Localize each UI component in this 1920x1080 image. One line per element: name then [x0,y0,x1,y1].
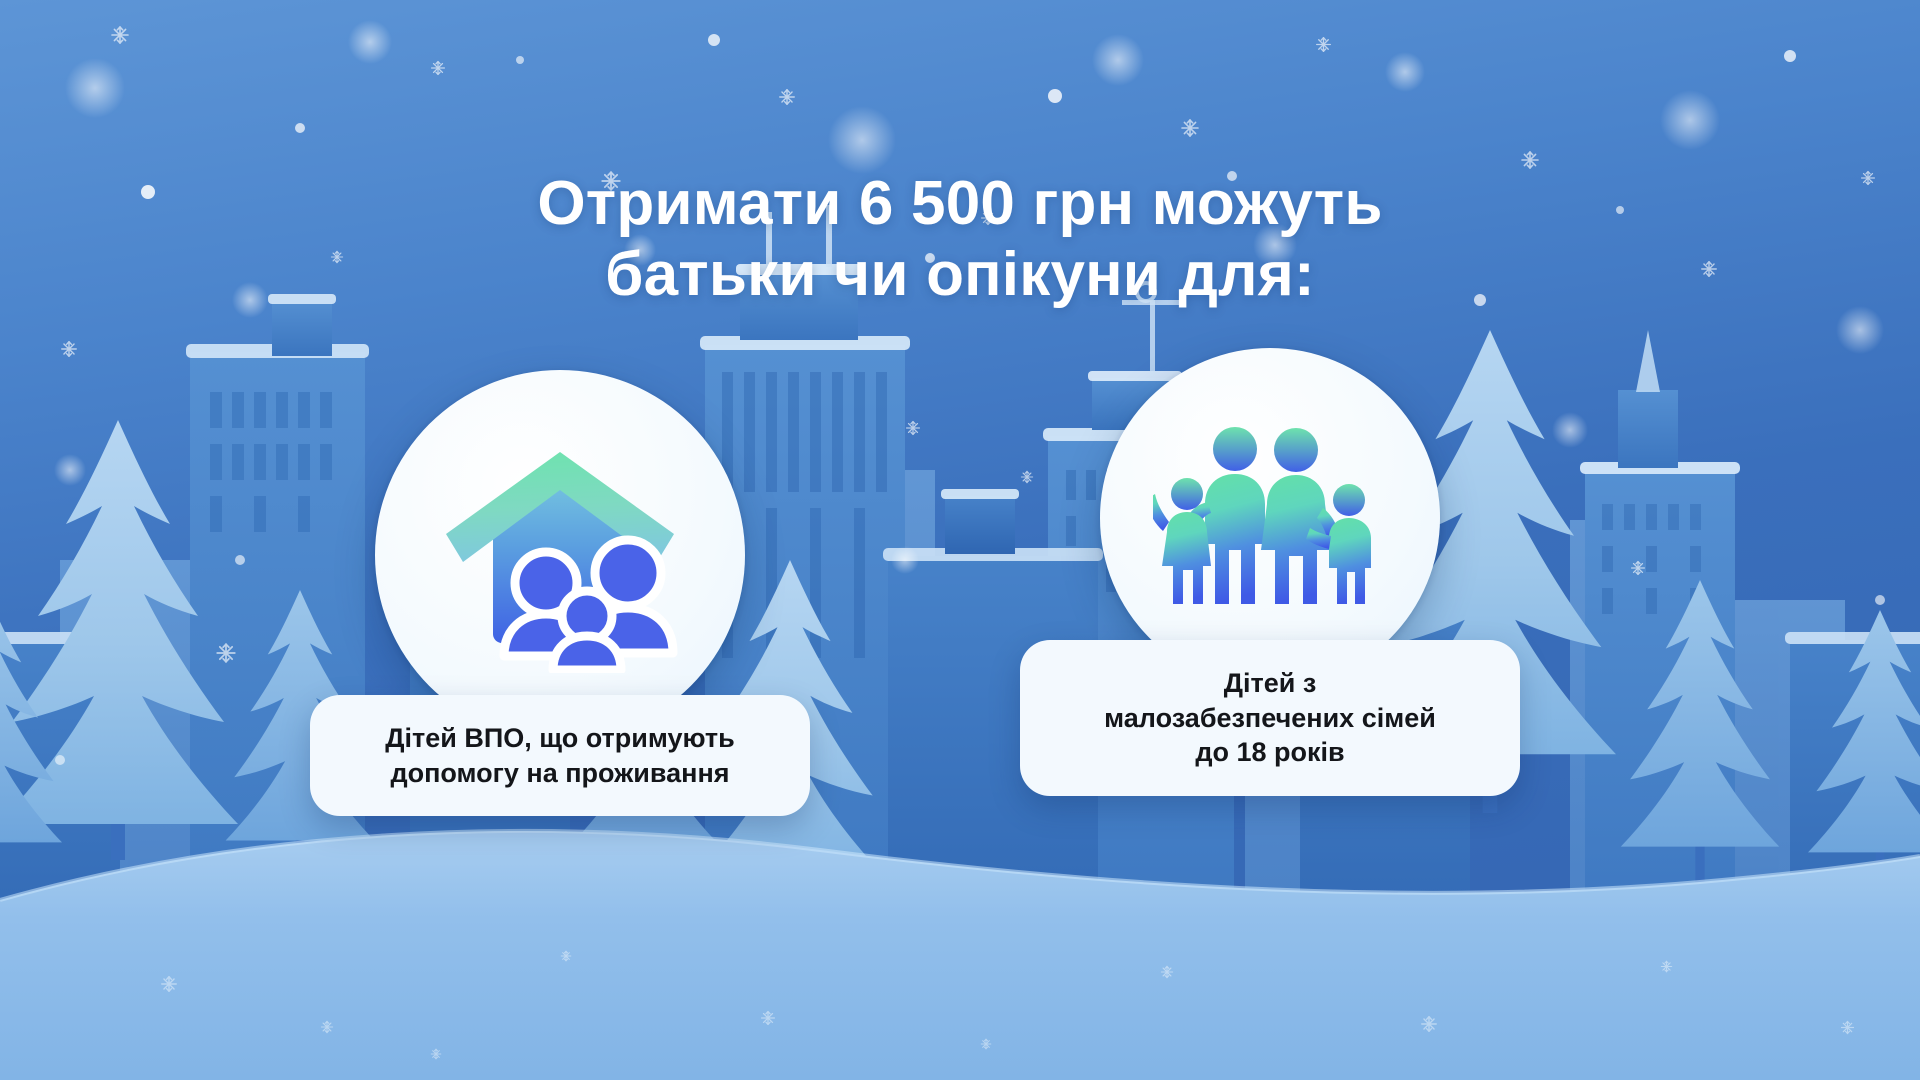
caption-line: Дітей ВПО, що отримують [344,721,776,756]
caption-line: малозабезпечених сімей [1054,701,1486,736]
family-of-four-icon [1153,418,1388,618]
card-caption-left: Дітей ВПО, що отримують допомогу на прож… [310,695,810,816]
icon-badge-right [1100,348,1440,688]
title-line-1: Отримати 6 500 грн можуть [360,168,1560,240]
icon-badge-left [375,370,745,740]
house-with-family-icon [435,438,685,673]
caption-line: до 18 років [1054,735,1486,770]
category-card-idp-children: Дітей ВПО, що отримують допомогу на прож… [300,370,820,816]
infographic-poster: Отримати 6 500 грн можуть батьки чи опік… [0,0,1920,1080]
caption-line: допомогу на проживання [344,756,776,791]
category-card-low-income-children: Дітей з малозабезпечених сімей до 18 рок… [1010,348,1530,796]
title-line-2: батьки чи опікуни для: [360,239,1560,311]
page-title: Отримати 6 500 грн можуть батьки чи опік… [360,168,1560,312]
caption-line: Дітей з [1054,666,1486,701]
card-caption-right: Дітей з малозабезпечених сімей до 18 рок… [1020,640,1520,796]
